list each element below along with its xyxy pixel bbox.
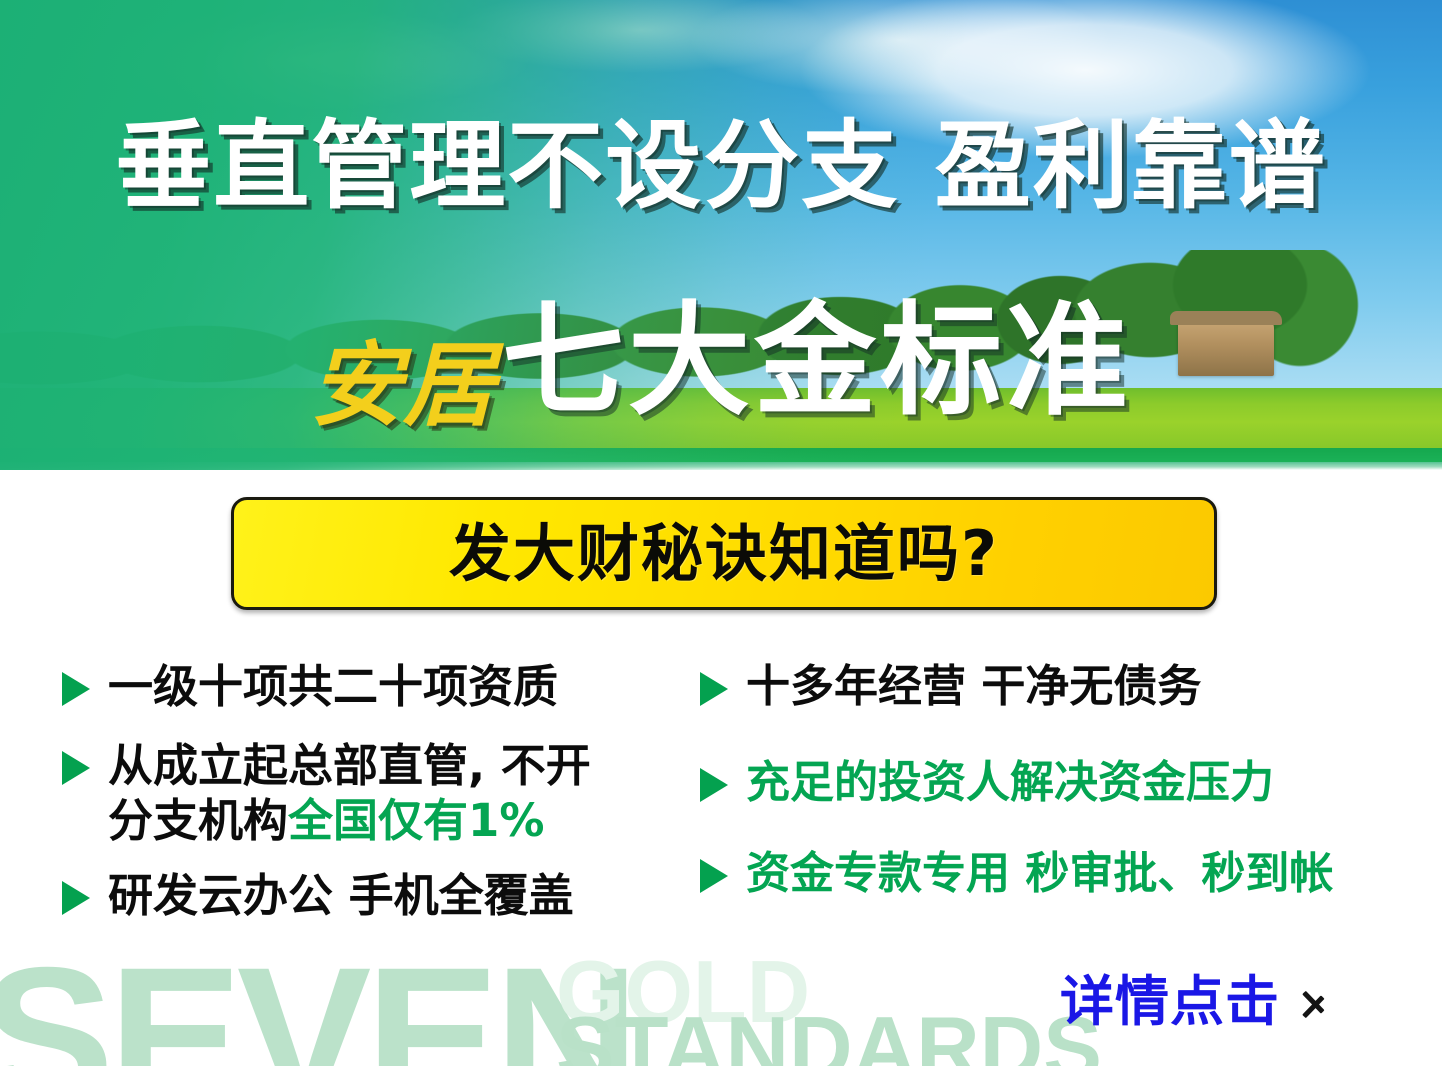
- hero-brand-text: 安居: [310, 311, 496, 444]
- yellow-banner-text: 发大财秘诀知道吗?: [449, 523, 999, 585]
- feature-line: 研发云办公 手机全覆盖: [108, 869, 574, 922]
- triangle-right-icon: [700, 768, 728, 802]
- details-cta-link[interactable]: 详情点击: [1060, 975, 1328, 1029]
- feature-highlight: 全国仅有1%: [288, 794, 544, 847]
- list-item: 研发云办公 手机全覆盖: [62, 869, 692, 924]
- chevron-right-icon: [1302, 978, 1328, 1026]
- list-item: 从成立起总部直管, 不开 分支机构全国仅有1%: [62, 739, 692, 849]
- hero-image: 垂直管理不设分支 盈利靠谱 安居七大金标准: [0, 0, 1442, 470]
- feature-columns: 一级十项共二十项资质 从成立起总部直管, 不开 分支机构全国仅有1% 研发云办公…: [0, 660, 1442, 990]
- feature-text: 充足的投资人解决资金压力: [746, 756, 1274, 810]
- list-item: 充足的投资人解决资金压力: [700, 756, 1400, 810]
- list-item: 资金专款专用 秒审批、秒到帐: [700, 847, 1400, 901]
- feature-text: 从成立起总部直管, 不开 分支机构全国仅有1%: [108, 739, 591, 849]
- hero-main-text: 七大金标准: [502, 262, 1132, 439]
- triangle-right-icon: [700, 859, 728, 893]
- feature-line: 从成立起总部直管, 不开: [108, 739, 591, 792]
- cta-label: 详情点击: [1060, 975, 1280, 1029]
- feature-column-left: 一级十项共二十项资质 从成立起总部直管, 不开 分支机构全国仅有1% 研发云办公…: [62, 660, 692, 940]
- advertisement-banner: 垂直管理不设分支 盈利靠谱 安居七大金标准 发大财秘诀知道吗? SEVEN GO…: [0, 0, 1442, 1066]
- yellow-question-banner[interactable]: 发大财秘诀知道吗?: [231, 497, 1217, 610]
- triangle-right-icon: [700, 672, 728, 706]
- triangle-right-icon: [62, 672, 90, 706]
- feature-column-right: 十多年经营 干净无债务 充足的投资人解决资金压力 资金专款专用 秒审批、秒到帐: [700, 660, 1400, 917]
- hero-headline-line2: 安居七大金标准: [0, 262, 1442, 444]
- triangle-right-icon: [62, 751, 90, 785]
- feature-line: 一级十项共二十项资质: [108, 660, 558, 713]
- feature-text: 十多年经营 干净无债务: [746, 660, 1201, 714]
- triangle-right-icon: [62, 881, 90, 915]
- list-item: 十多年经营 干净无债务: [700, 660, 1400, 714]
- list-item: 一级十项共二十项资质: [62, 660, 692, 715]
- feature-text: 一级十项共二十项资质: [108, 660, 558, 715]
- hero-headline-line1: 垂直管理不设分支 盈利靠谱: [0, 118, 1442, 214]
- feature-line: 分支机构: [108, 794, 288, 847]
- feature-text: 研发云办公 手机全覆盖: [108, 869, 574, 924]
- watermark-standards: STANDARDS: [556, 1004, 1102, 1066]
- feature-text: 资金专款专用 秒审批、秒到帐: [746, 847, 1333, 901]
